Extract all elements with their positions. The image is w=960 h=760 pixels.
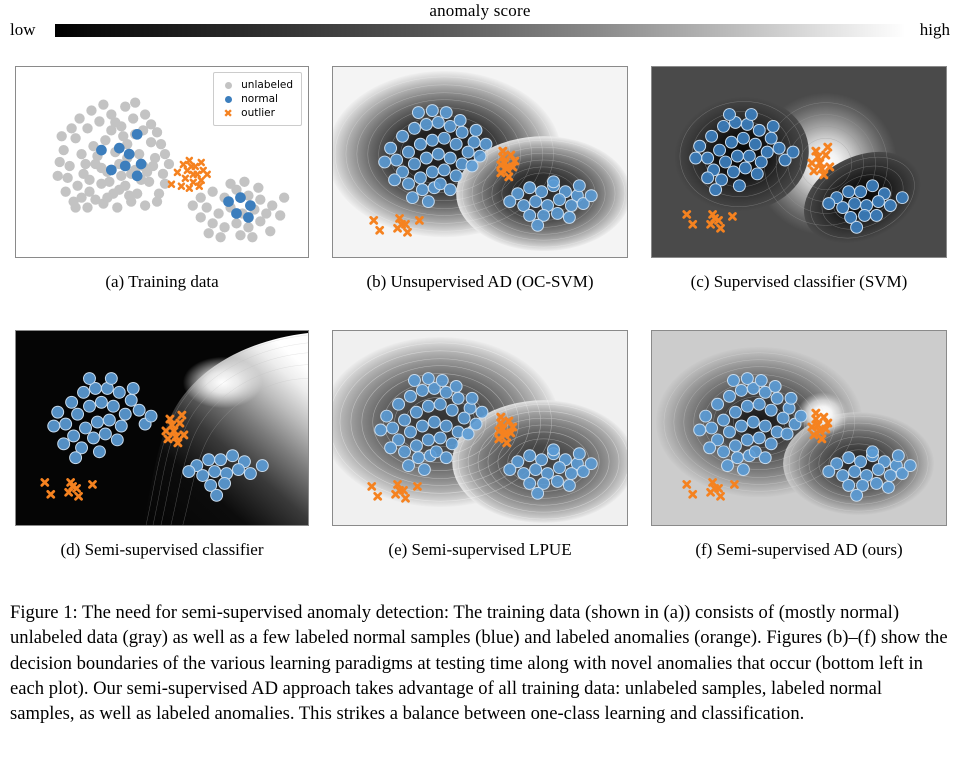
panel-f-semisupervised-ad-ours — [651, 330, 947, 526]
subcaption-c: (c) Supervised classifier (SVM) — [651, 272, 947, 292]
unlabeled-dot-icon — [220, 78, 236, 92]
panel-d-contour — [16, 331, 308, 525]
panel-b-unsupervised-ad — [332, 66, 628, 258]
colorbar-high-label: high — [920, 20, 950, 40]
legend-label-outlier: outlier — [241, 106, 275, 120]
subcaption-f: (f) Semi-supervised AD (ours) — [651, 540, 947, 560]
panel-e-semisupervised-lpue — [332, 330, 628, 526]
figure-caption: Figure 1: The need for semi-supervised a… — [10, 600, 950, 726]
colorbar-low-label: low — [10, 20, 36, 40]
normal-dot-icon — [220, 92, 236, 106]
colorbar-gradient — [55, 24, 905, 37]
legend-label-normal: normal — [241, 92, 278, 106]
panel-c-supervised-classifier — [651, 66, 947, 258]
legend-label-unlabeled: unlabeled — [241, 78, 293, 92]
subcaption-a: (a) Training data — [15, 272, 309, 292]
subcaption-e: (e) Semi-supervised LPUE — [332, 540, 628, 560]
outlier-x-icon: ✖ — [220, 106, 236, 120]
panel-c-contour — [652, 67, 946, 257]
subcaption-d: (d) Semi-supervised classifier — [15, 540, 309, 560]
subcaption-b: (b) Unsupervised AD (OC-SVM) — [332, 272, 628, 292]
legend-item-normal: normal — [220, 92, 293, 106]
panel-a-training-data: unlabeled normal ✖ outlier — [15, 66, 309, 258]
panel-e-contour — [333, 331, 627, 525]
legend: unlabeled normal ✖ outlier — [213, 72, 302, 126]
outlier-markers — [169, 158, 210, 191]
panel-b-contour — [333, 67, 627, 257]
panel-f-contour — [652, 331, 946, 525]
colorbar-section: anomaly score low high — [0, 0, 960, 52]
legend-item-unlabeled: unlabeled — [220, 78, 293, 92]
colorbar-title: anomaly score — [0, 1, 960, 21]
legend-item-outlier: ✖ outlier — [220, 106, 293, 120]
panel-d-semisupervised-classifier — [15, 330, 309, 526]
